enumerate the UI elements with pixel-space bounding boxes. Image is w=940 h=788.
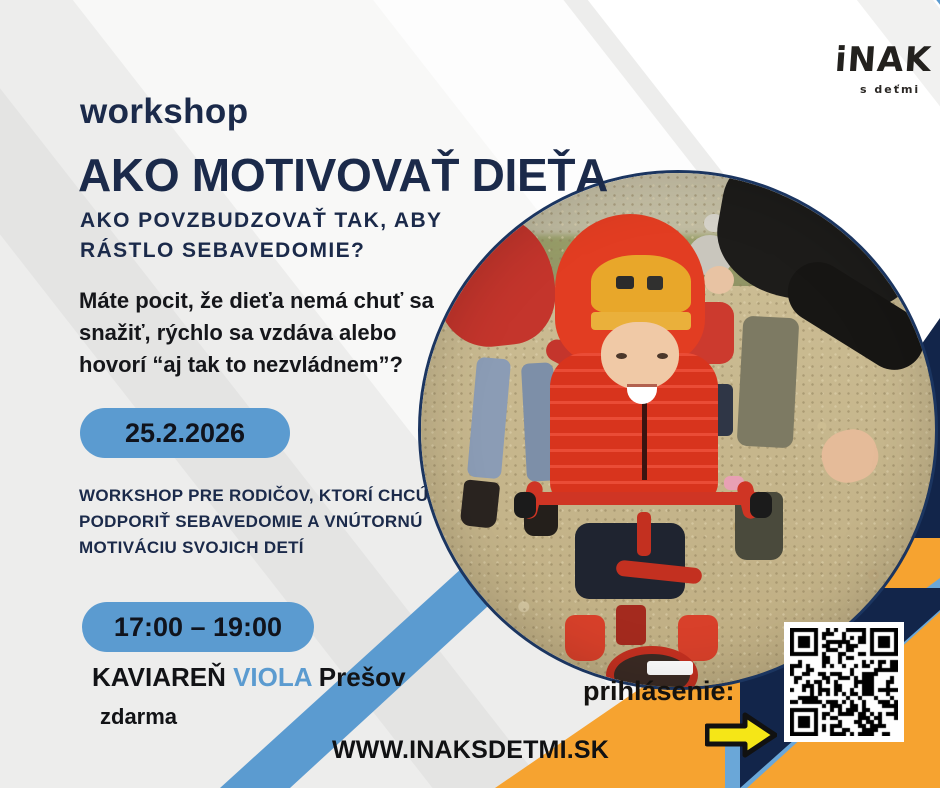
subtitle-line-1: AKO POVZBUDZOVAŤ TAK, ABY: [80, 206, 442, 236]
body-line-3: hovorí “aj tak to nezvládnem”?: [79, 349, 434, 381]
body-line-1: Máte pocit, že dieťa nemá chuť sa: [79, 285, 434, 317]
page-title: AKO MOTIVOVAŤ DIEŤA: [78, 148, 608, 202]
arrow-right-icon: [705, 712, 777, 758]
date-badge: 25.2.2026: [80, 408, 290, 458]
website-url[interactable]: WWW.INAKSDETMI.SK: [332, 736, 609, 765]
qr-code-icon[interactable]: [784, 622, 904, 742]
logo-wordmark: iNAK: [834, 40, 934, 80]
signup-label: prihlásenie:: [583, 676, 735, 707]
poster: iNAK s deťmi workshop AKO MOTIVOVAŤ DIEŤ…: [0, 0, 940, 788]
eyebrow-label: workshop: [80, 92, 249, 132]
photo-vignette: [421, 173, 935, 687]
hero-photo: [418, 170, 938, 690]
price-label: zdarma: [100, 704, 177, 730]
venue-line: KAVIAREŇ VIOLA Prešov: [92, 662, 406, 693]
description-line-3: MOTIVÁCIU SVOJICH DETÍ: [79, 535, 428, 561]
description-block: WORKSHOP PRE RODIČOV, KTORÍ CHCÚ PODPORI…: [79, 483, 428, 561]
venue-highlight: VIOLA: [233, 662, 311, 692]
time-badge: 17:00 – 19:00: [82, 602, 314, 652]
logo-tagline: s deťmi: [860, 83, 920, 96]
body-line-2: snažiť, rýchlo sa vzdáva alebo: [79, 317, 434, 349]
description-line-2: PODPORIŤ SEBAVEDOMIE A VNÚTORNÚ: [79, 509, 428, 535]
subtitle-line-2: RÁSTLO SEBAVEDOMIE?: [80, 236, 442, 266]
venue-prefix: KAVIAREŇ: [92, 662, 233, 692]
body-paragraph: Máte pocit, že dieťa nemá chuť sa snažiť…: [79, 285, 434, 381]
venue-suffix: Prešov: [312, 662, 406, 692]
subtitle: AKO POVZBUDZOVAŤ TAK, ABY RÁSTLO SEBAVED…: [80, 206, 442, 266]
description-line-1: WORKSHOP PRE RODIČOV, KTORÍ CHCÚ: [79, 483, 428, 509]
